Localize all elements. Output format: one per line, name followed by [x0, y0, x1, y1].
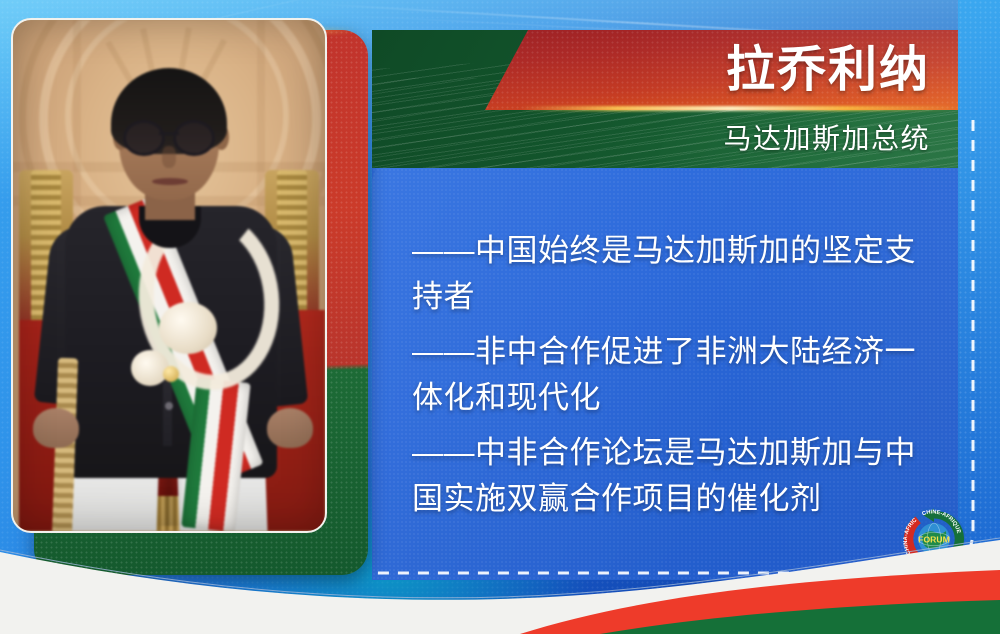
glasses-lens-right [173, 120, 215, 156]
infographic-card: 拉乔利纳 马达加斯加总统 ——中国始终是马达加斯加的坚定支持者 ——非中合作促进… [0, 0, 1000, 634]
medal-icon [163, 366, 179, 382]
glasses-bridge [159, 132, 179, 135]
lei-flower-cluster [159, 302, 217, 354]
role-subtitle: 马达加斯加总统 [485, 112, 958, 162]
glasses-lens-left [123, 120, 165, 156]
mouth [152, 178, 188, 185]
hand-left [33, 408, 79, 448]
hand-right [267, 408, 313, 448]
portrait-scene [13, 20, 325, 531]
bottom-ribbons [0, 504, 1000, 634]
page-title: 拉乔利纳 [485, 30, 958, 110]
quote-list: ——中国始终是马达加斯加的坚定支持者 ——非中合作促进了非洲大陆经济一体化和现代… [412, 228, 942, 531]
portrait-photo [11, 18, 327, 533]
glasses-icon [123, 120, 215, 150]
suit-button [165, 402, 173, 410]
quote-item: ——中国始终是马达加斯加的坚定支持者 [412, 228, 942, 320]
quote-item: ——非中合作促进了非洲大陆经济一体化和现代化 [412, 329, 942, 421]
lei-flower-cluster [131, 350, 169, 386]
